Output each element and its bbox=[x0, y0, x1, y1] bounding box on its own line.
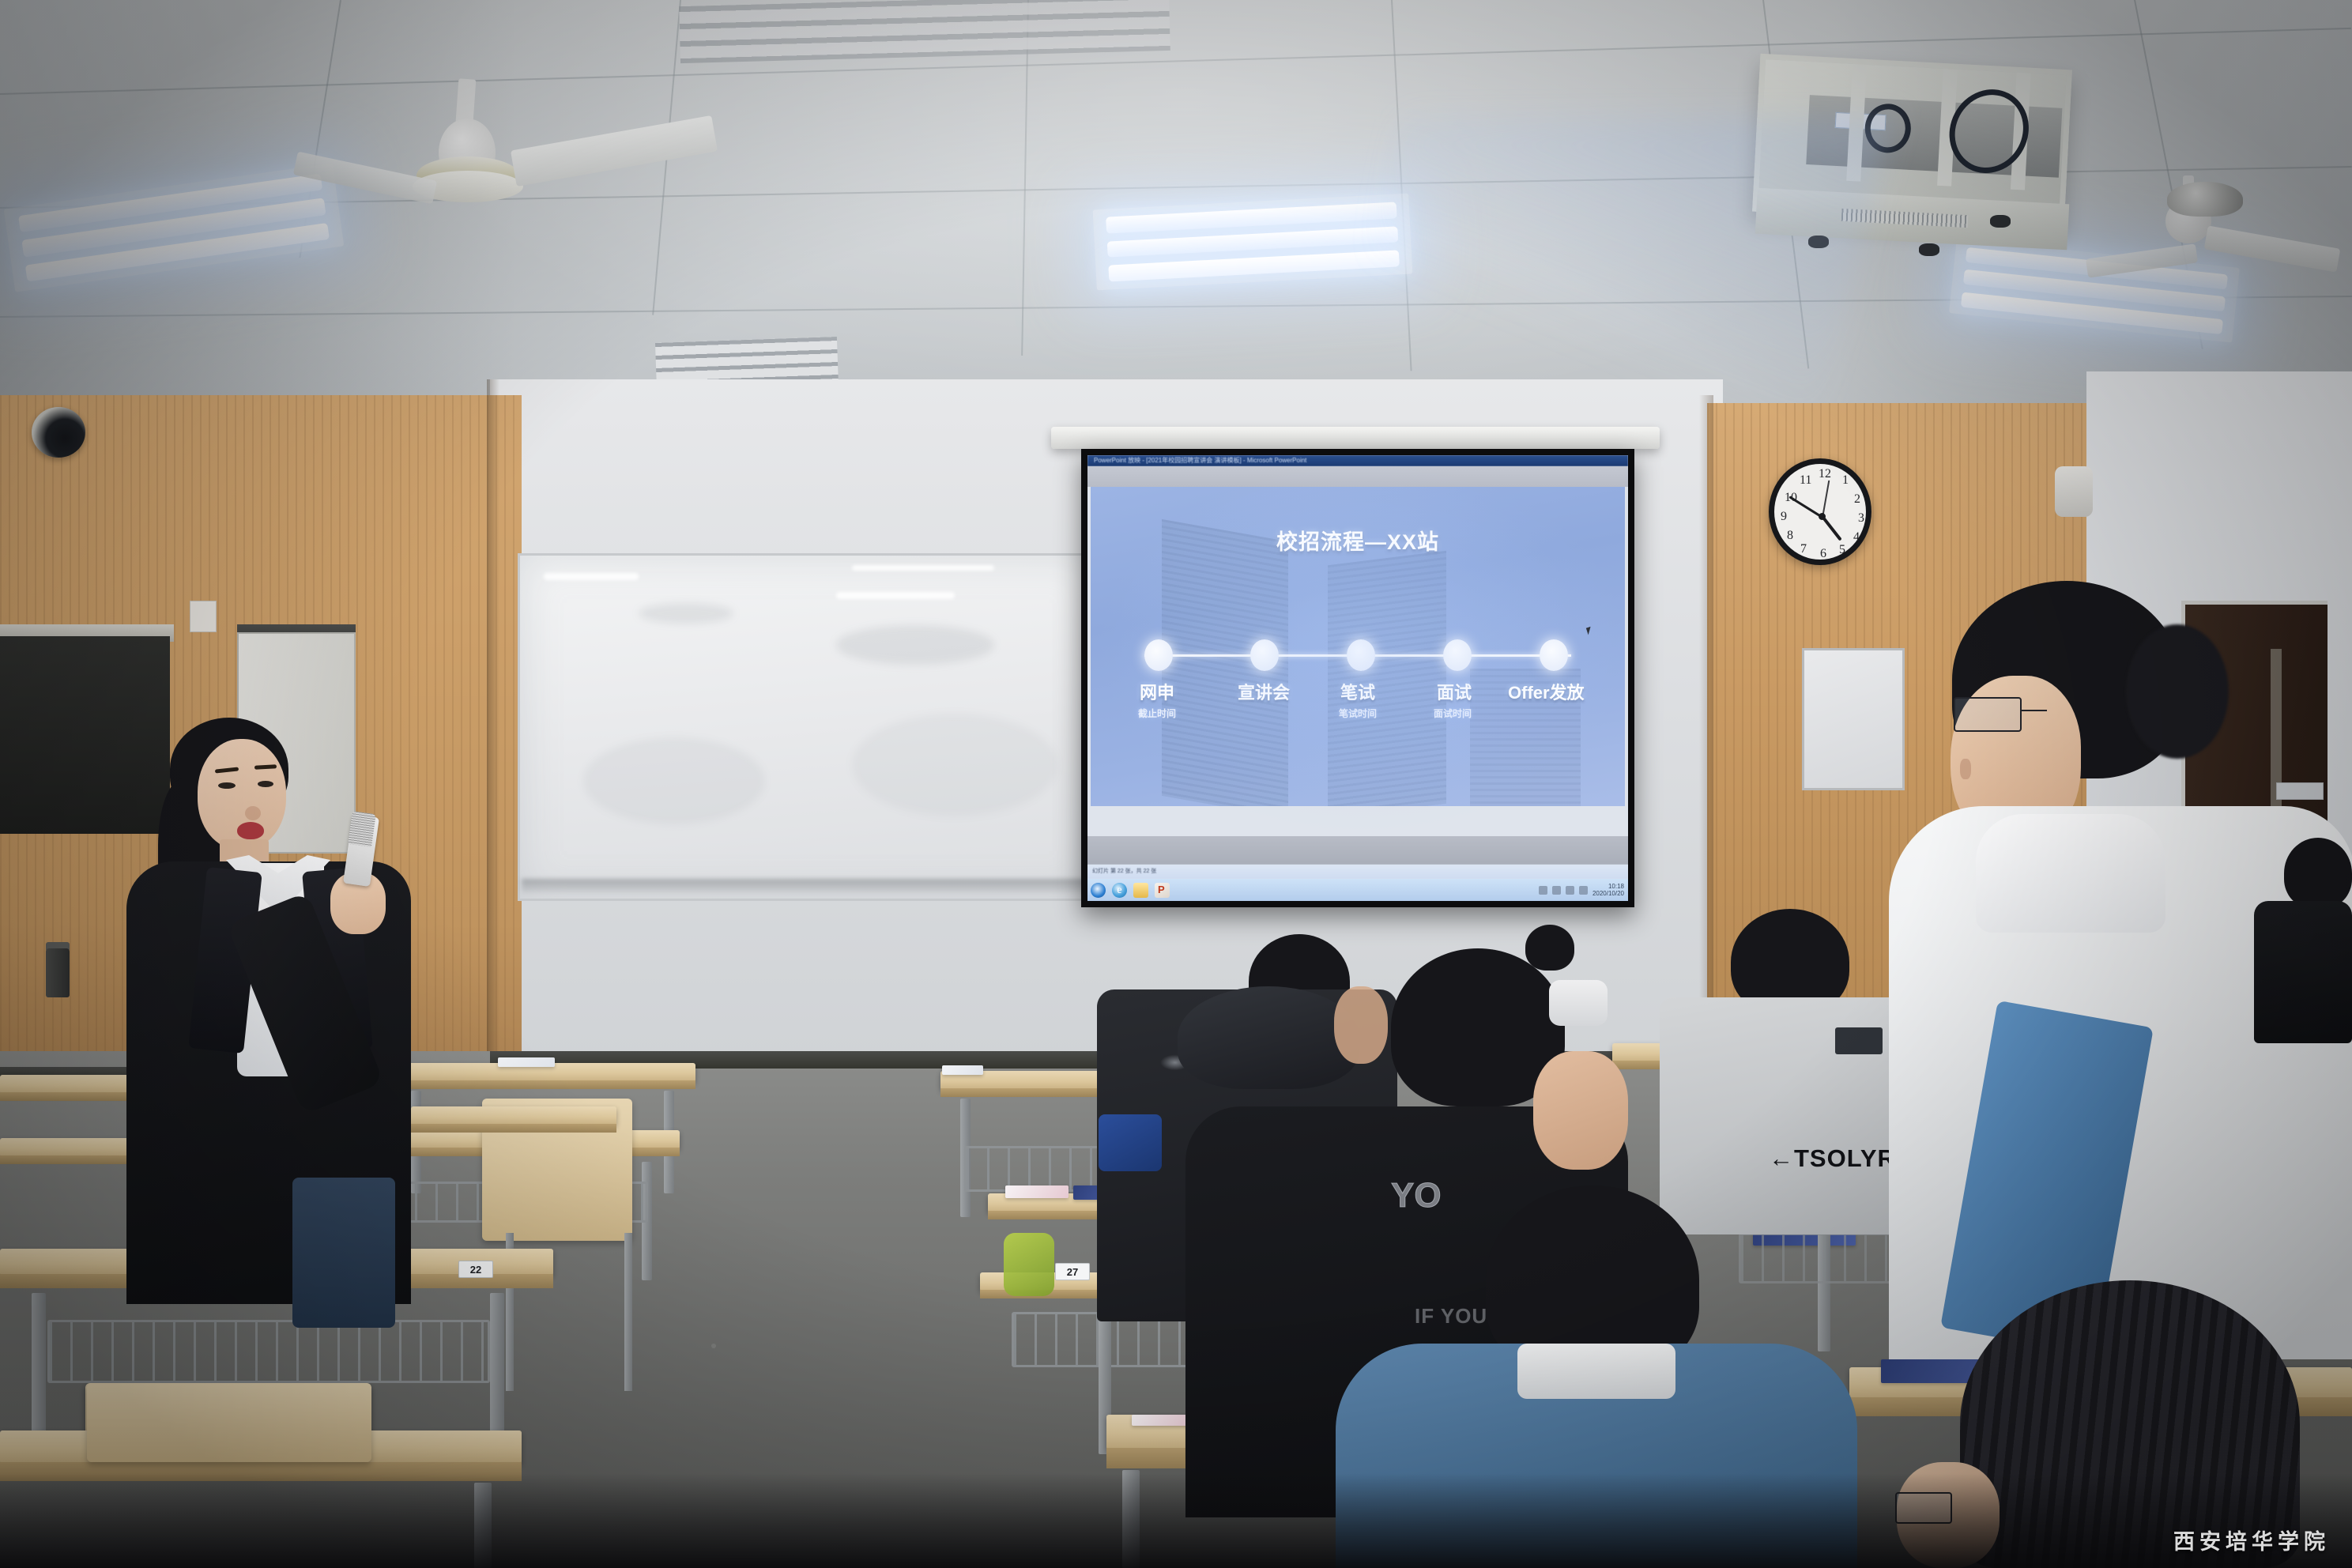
internet-explorer-icon[interactable]: e bbox=[1112, 883, 1127, 898]
tray-action-center-icon[interactable] bbox=[1552, 886, 1561, 895]
powerpoint-status-bar: 幻灯片 第 22 张，共 22 张 bbox=[1087, 865, 1628, 879]
projection-screen-surface: PowerPoint 放映 - [2021年校园招聘宣讲会 演讲模板] - Mi… bbox=[1087, 455, 1628, 901]
taskbar-clock-date: 2020/10/20 bbox=[1592, 890, 1624, 897]
tray-refresh-icon[interactable] bbox=[1566, 886, 1574, 895]
timeline-sub-interview-time: 面试时间 bbox=[1434, 707, 1472, 720]
clock-hour-hand bbox=[1822, 517, 1841, 541]
student-nose bbox=[1960, 759, 1971, 779]
slide-title: 校招流程—XX站 bbox=[1091, 525, 1625, 556]
glasses-icon bbox=[1895, 1492, 1952, 1524]
presenter-eye bbox=[218, 782, 236, 789]
tray-volume-icon[interactable] bbox=[1579, 886, 1588, 895]
desk-leg bbox=[490, 1293, 504, 1435]
student-collar bbox=[1517, 1344, 1675, 1399]
student-desk bbox=[395, 1063, 695, 1095]
student-backpack bbox=[1004, 1233, 1054, 1296]
clock-center-pin bbox=[1819, 513, 1826, 520]
timeline-node bbox=[1347, 639, 1375, 671]
wall-sign bbox=[2276, 782, 2324, 800]
student-hair-volume bbox=[2126, 624, 2229, 759]
student-chair[interactable] bbox=[87, 1383, 371, 1462]
desk-number-tag: 27 bbox=[1055, 1263, 1090, 1280]
system-tray: 10:18 2020/10/20 bbox=[1539, 883, 1628, 897]
powerpoint-icon[interactable] bbox=[1155, 883, 1170, 898]
taskbar-clock[interactable]: 10:18 2020/10/20 bbox=[1592, 883, 1624, 897]
wall-edge-shadow bbox=[1699, 395, 1713, 1091]
student-collar-detail bbox=[1835, 1027, 1883, 1054]
desk-leg bbox=[474, 1483, 492, 1568]
wall-speaker bbox=[2055, 466, 2093, 517]
presenter-eye bbox=[258, 781, 273, 787]
security-camera-icon bbox=[32, 407, 85, 458]
desk-handout bbox=[942, 1065, 983, 1075]
projection-screen: PowerPoint 放映 - [2021年校园招聘宣讲会 演讲模板] - Mi… bbox=[1081, 449, 1634, 907]
water-bottle bbox=[46, 948, 70, 997]
clock-numeral: 5 bbox=[1839, 543, 1845, 557]
clock-numeral: 11 bbox=[1800, 473, 1811, 488]
whiteboard bbox=[518, 553, 1099, 901]
desk-leg bbox=[32, 1293, 46, 1451]
desk-leg bbox=[1122, 1470, 1140, 1568]
timeline-label-xuanjianghui: 宣讲会 bbox=[1238, 679, 1290, 704]
powerpoint-title-bar: PowerPoint 放映 - [2021年校园招聘宣讲会 演讲模板] - Mi… bbox=[1087, 455, 1628, 466]
student-hood bbox=[1976, 814, 2165, 933]
chair-leg bbox=[624, 1233, 632, 1391]
student-bag bbox=[1099, 1114, 1162, 1171]
clock-second-hand bbox=[1822, 481, 1830, 518]
timeline-label-mianshi: 面试 bbox=[1437, 679, 1472, 704]
powerpoint-toolbar-area bbox=[1087, 466, 1628, 487]
student-cup bbox=[1549, 980, 1608, 1026]
clock-numeral: 12 bbox=[1819, 467, 1831, 481]
timeline-node bbox=[1540, 639, 1568, 671]
presenter-trousers bbox=[292, 1178, 395, 1328]
student-hood bbox=[1178, 986, 1359, 1089]
tray-network-icon[interactable] bbox=[1539, 886, 1547, 895]
timeline-node bbox=[1250, 639, 1279, 671]
presentation-slide: 校招流程—XX站 网申 宣讲会 笔试 面试 Offer发放 截止时间 笔试时间 … bbox=[1091, 487, 1625, 806]
ceiling-shading bbox=[0, 0, 2352, 443]
taskbar-clock-time: 10:18 bbox=[1592, 883, 1624, 890]
file-explorer-icon[interactable] bbox=[1133, 883, 1148, 898]
microphone-grille bbox=[348, 811, 376, 847]
student-torso bbox=[2254, 901, 2352, 1043]
presenter-mouth bbox=[237, 822, 264, 839]
notice-board bbox=[1802, 648, 1905, 790]
windows-taskbar: e 10:18 2020/10/20 bbox=[1087, 879, 1628, 901]
wall-clock: 12 1 2 3 4 5 6 7 8 9 10 11 bbox=[1769, 458, 1871, 565]
clock-numeral: 9 bbox=[1781, 510, 1787, 524]
student-hair bbox=[2284, 838, 2352, 909]
student-desk bbox=[411, 1106, 616, 1136]
desk-handout bbox=[1132, 1415, 1189, 1426]
desk-number-tag: 22 bbox=[458, 1261, 493, 1278]
powerpoint-bottom-chrome bbox=[1087, 836, 1628, 865]
clock-numeral: 1 bbox=[1842, 473, 1849, 488]
clock-numeral: 2 bbox=[1854, 492, 1860, 507]
glasses-bridge bbox=[2020, 710, 2047, 711]
timeline-node bbox=[1443, 639, 1472, 671]
student-face-profile bbox=[1533, 1051, 1628, 1170]
clock-numeral: 7 bbox=[1800, 542, 1807, 556]
desk-basket bbox=[47, 1320, 490, 1383]
clock-numeral: 8 bbox=[1787, 529, 1793, 543]
jacket-logo-text-top: YO bbox=[1391, 1176, 1442, 1216]
mouse-cursor-icon bbox=[1586, 626, 1596, 635]
glasses-icon bbox=[1954, 697, 2022, 732]
watermark: 西安培华学院 bbox=[2173, 1525, 2330, 1555]
timeline-label-offer: Offer发放 bbox=[1508, 679, 1585, 704]
projection-screen-housing bbox=[1051, 427, 1660, 449]
timeline-node bbox=[1144, 639, 1173, 671]
podium-cabinet bbox=[0, 636, 170, 834]
timeline-sub-written-time: 笔试时间 bbox=[1339, 707, 1377, 720]
student-hair bbox=[1525, 925, 1574, 971]
timeline-label-bishi: 笔试 bbox=[1340, 679, 1375, 704]
timeline-sub-deadline: 截止时间 bbox=[1138, 707, 1176, 720]
classroom-photo: 12 1 2 3 4 5 6 7 8 9 10 11 PowerPoint 放映… bbox=[0, 0, 2352, 1568]
timeline-label-wangshen: 网申 bbox=[1140, 679, 1174, 704]
clock-numeral: 3 bbox=[1858, 511, 1864, 526]
whiteboard-bottom-smudge bbox=[522, 879, 1099, 893]
clock-numeral: 4 bbox=[1853, 530, 1860, 545]
wall-edge-shadow bbox=[487, 379, 499, 1091]
student-ear bbox=[1334, 986, 1388, 1064]
desk-handout bbox=[498, 1057, 555, 1067]
presenter-nose bbox=[245, 806, 261, 820]
desk-handout bbox=[1005, 1185, 1069, 1198]
wall-switch-plate[interactable] bbox=[190, 601, 217, 632]
start-orb-icon[interactable] bbox=[1091, 883, 1106, 898]
clock-numeral: 6 bbox=[1820, 547, 1826, 561]
